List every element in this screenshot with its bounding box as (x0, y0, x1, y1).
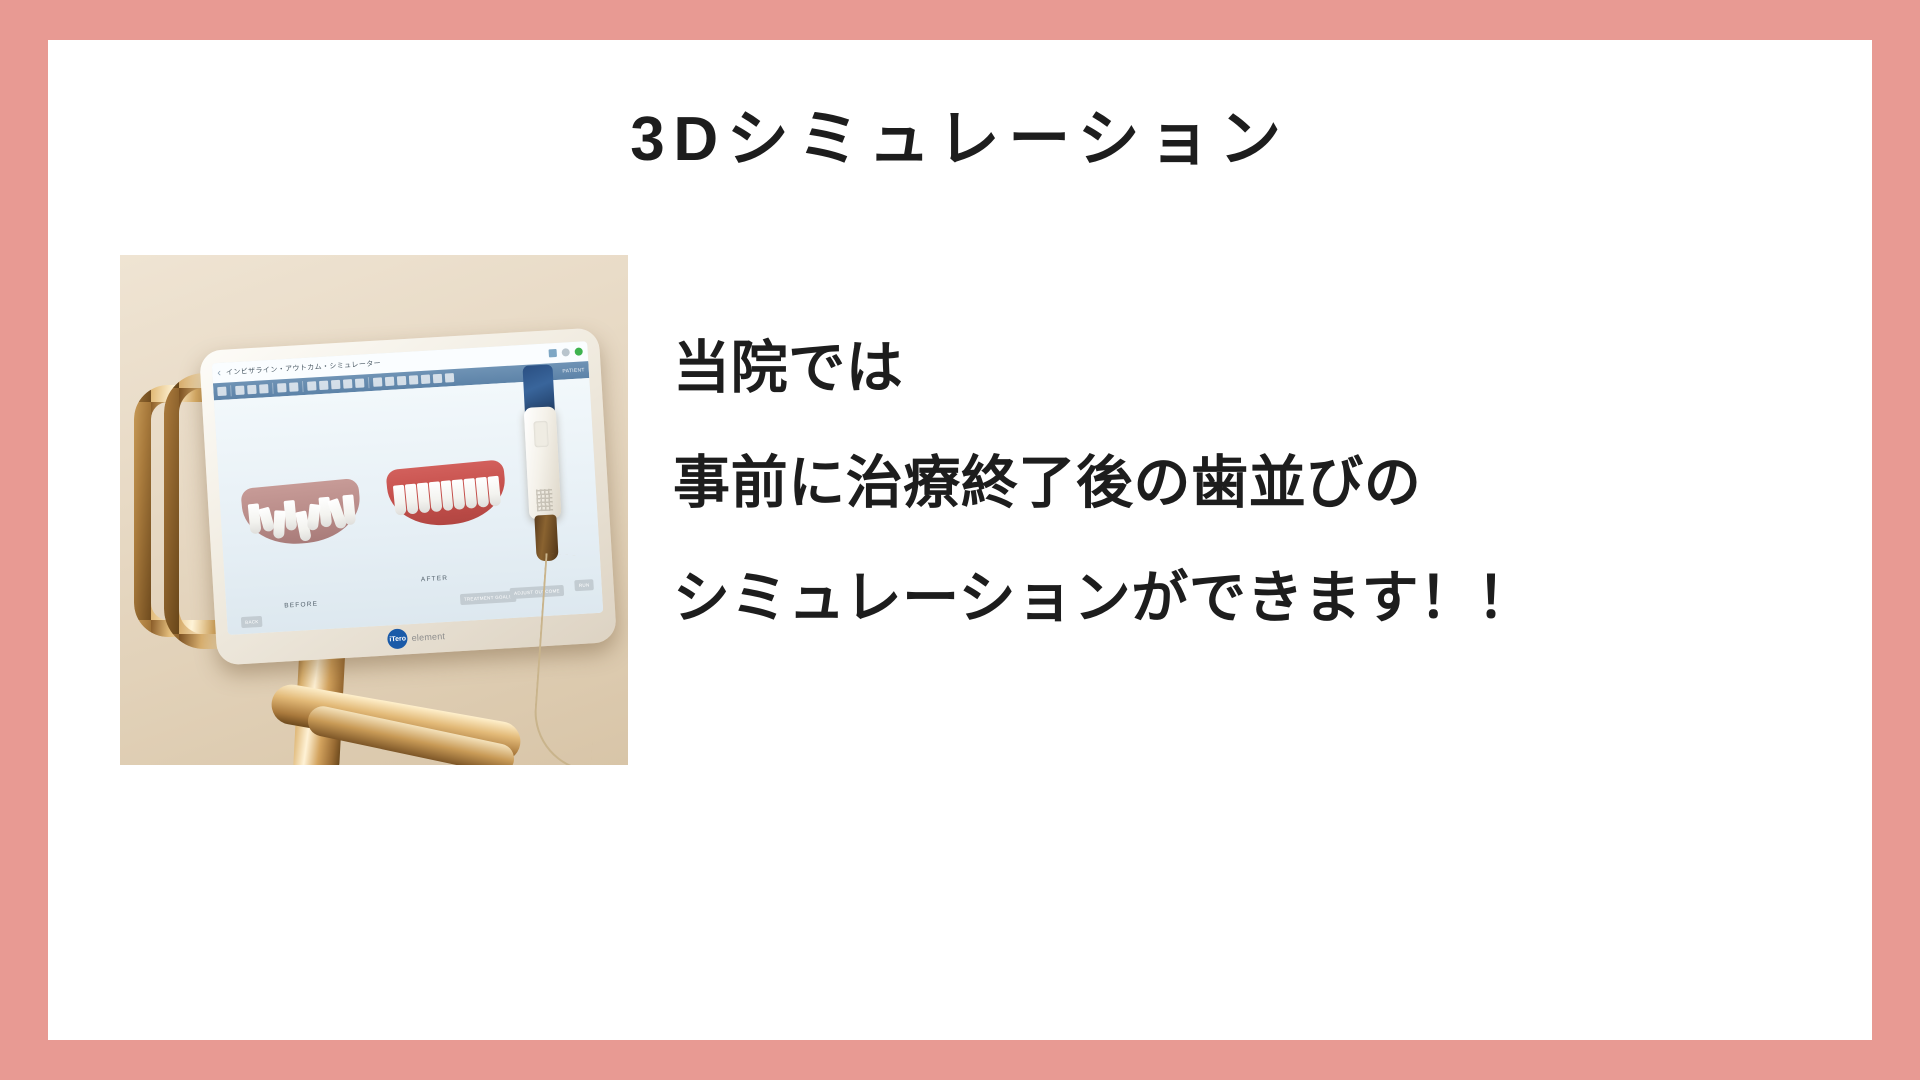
copy-line-1: 当院では (673, 340, 1803, 397)
header-icon-group (549, 347, 583, 357)
dental-arch-before (240, 478, 363, 549)
copy-line-2: 事前に治療終了後の歯並びの (673, 455, 1803, 512)
toolbar-redo-icon[interactable] (289, 382, 299, 392)
before-label: BEFORE (284, 601, 318, 610)
toolbar-undo-icon[interactable] (277, 383, 287, 393)
toolbar-divider (230, 385, 232, 396)
gear-icon[interactable] (562, 348, 570, 356)
toolbar-timer-icon[interactable] (307, 381, 317, 391)
toolbar-right-view-icon[interactable] (421, 374, 431, 384)
after-label: AFTER (421, 575, 449, 584)
toolbar-occlusion-icon[interactable] (331, 380, 341, 390)
toolbar-bite-view-icon[interactable] (433, 374, 443, 384)
device-model-name: element (411, 631, 445, 643)
toolbar-patient-label: PATIENT (562, 367, 585, 374)
treatment-goals-button[interactable]: TREATMENT GOALS (460, 591, 517, 605)
toolbar-export-icon[interactable] (259, 384, 269, 394)
wand-vent-grill (536, 489, 553, 512)
toolbar-save-icon[interactable] (247, 385, 257, 395)
tooth (428, 481, 442, 512)
body-copy: 当院では 事前に治療終了後の歯並びの シミュレーションができます！！ (673, 340, 1803, 627)
slide-root: 3Dシミュレーション ‹ インビザライン・アウトカム・シミュレーター (0, 0, 1920, 1080)
scanner-wand-body (524, 406, 562, 520)
home-icon[interactable] (549, 349, 557, 357)
toolbar-measure-icon[interactable] (355, 378, 365, 388)
slide-canvas: 3Dシミュレーション ‹ インビザライン・アウトカム・シミュレーター (48, 40, 1872, 1040)
toolbar-upper-arch-icon[interactable] (373, 377, 383, 387)
toolbar-smile-view-icon[interactable] (445, 373, 455, 383)
back-chevron-icon[interactable]: ‹ (217, 367, 221, 378)
toolbar-contacts-icon[interactable] (343, 379, 353, 389)
toolbar-divider (368, 377, 370, 388)
toolbar-chart-icon[interactable] (235, 386, 245, 396)
toolbar-divider (272, 383, 274, 394)
toolbar-divider (302, 381, 304, 392)
help-icon[interactable] (574, 347, 582, 355)
toolbar-search-icon[interactable] (217, 387, 227, 397)
itero-logo: iTero (387, 628, 408, 649)
dental-arch-after (385, 459, 508, 530)
copy-line-3: シミュレーションができます！！ (673, 570, 1803, 627)
wand-button[interactable] (533, 421, 548, 448)
tooth (273, 510, 285, 538)
toolbar-layers-icon[interactable] (319, 381, 329, 391)
tooth (307, 504, 321, 531)
toolbar-front-view-icon[interactable] (397, 376, 407, 386)
toolbar-lower-arch-icon[interactable] (385, 377, 395, 387)
back-button[interactable]: BACK (241, 616, 263, 628)
page-title: 3Dシミュレーション (48, 88, 1872, 178)
clinic-photo: ‹ インビザライン・アウトカム・シミュレーター (120, 255, 628, 765)
toolbar-left-view-icon[interactable] (409, 375, 419, 385)
